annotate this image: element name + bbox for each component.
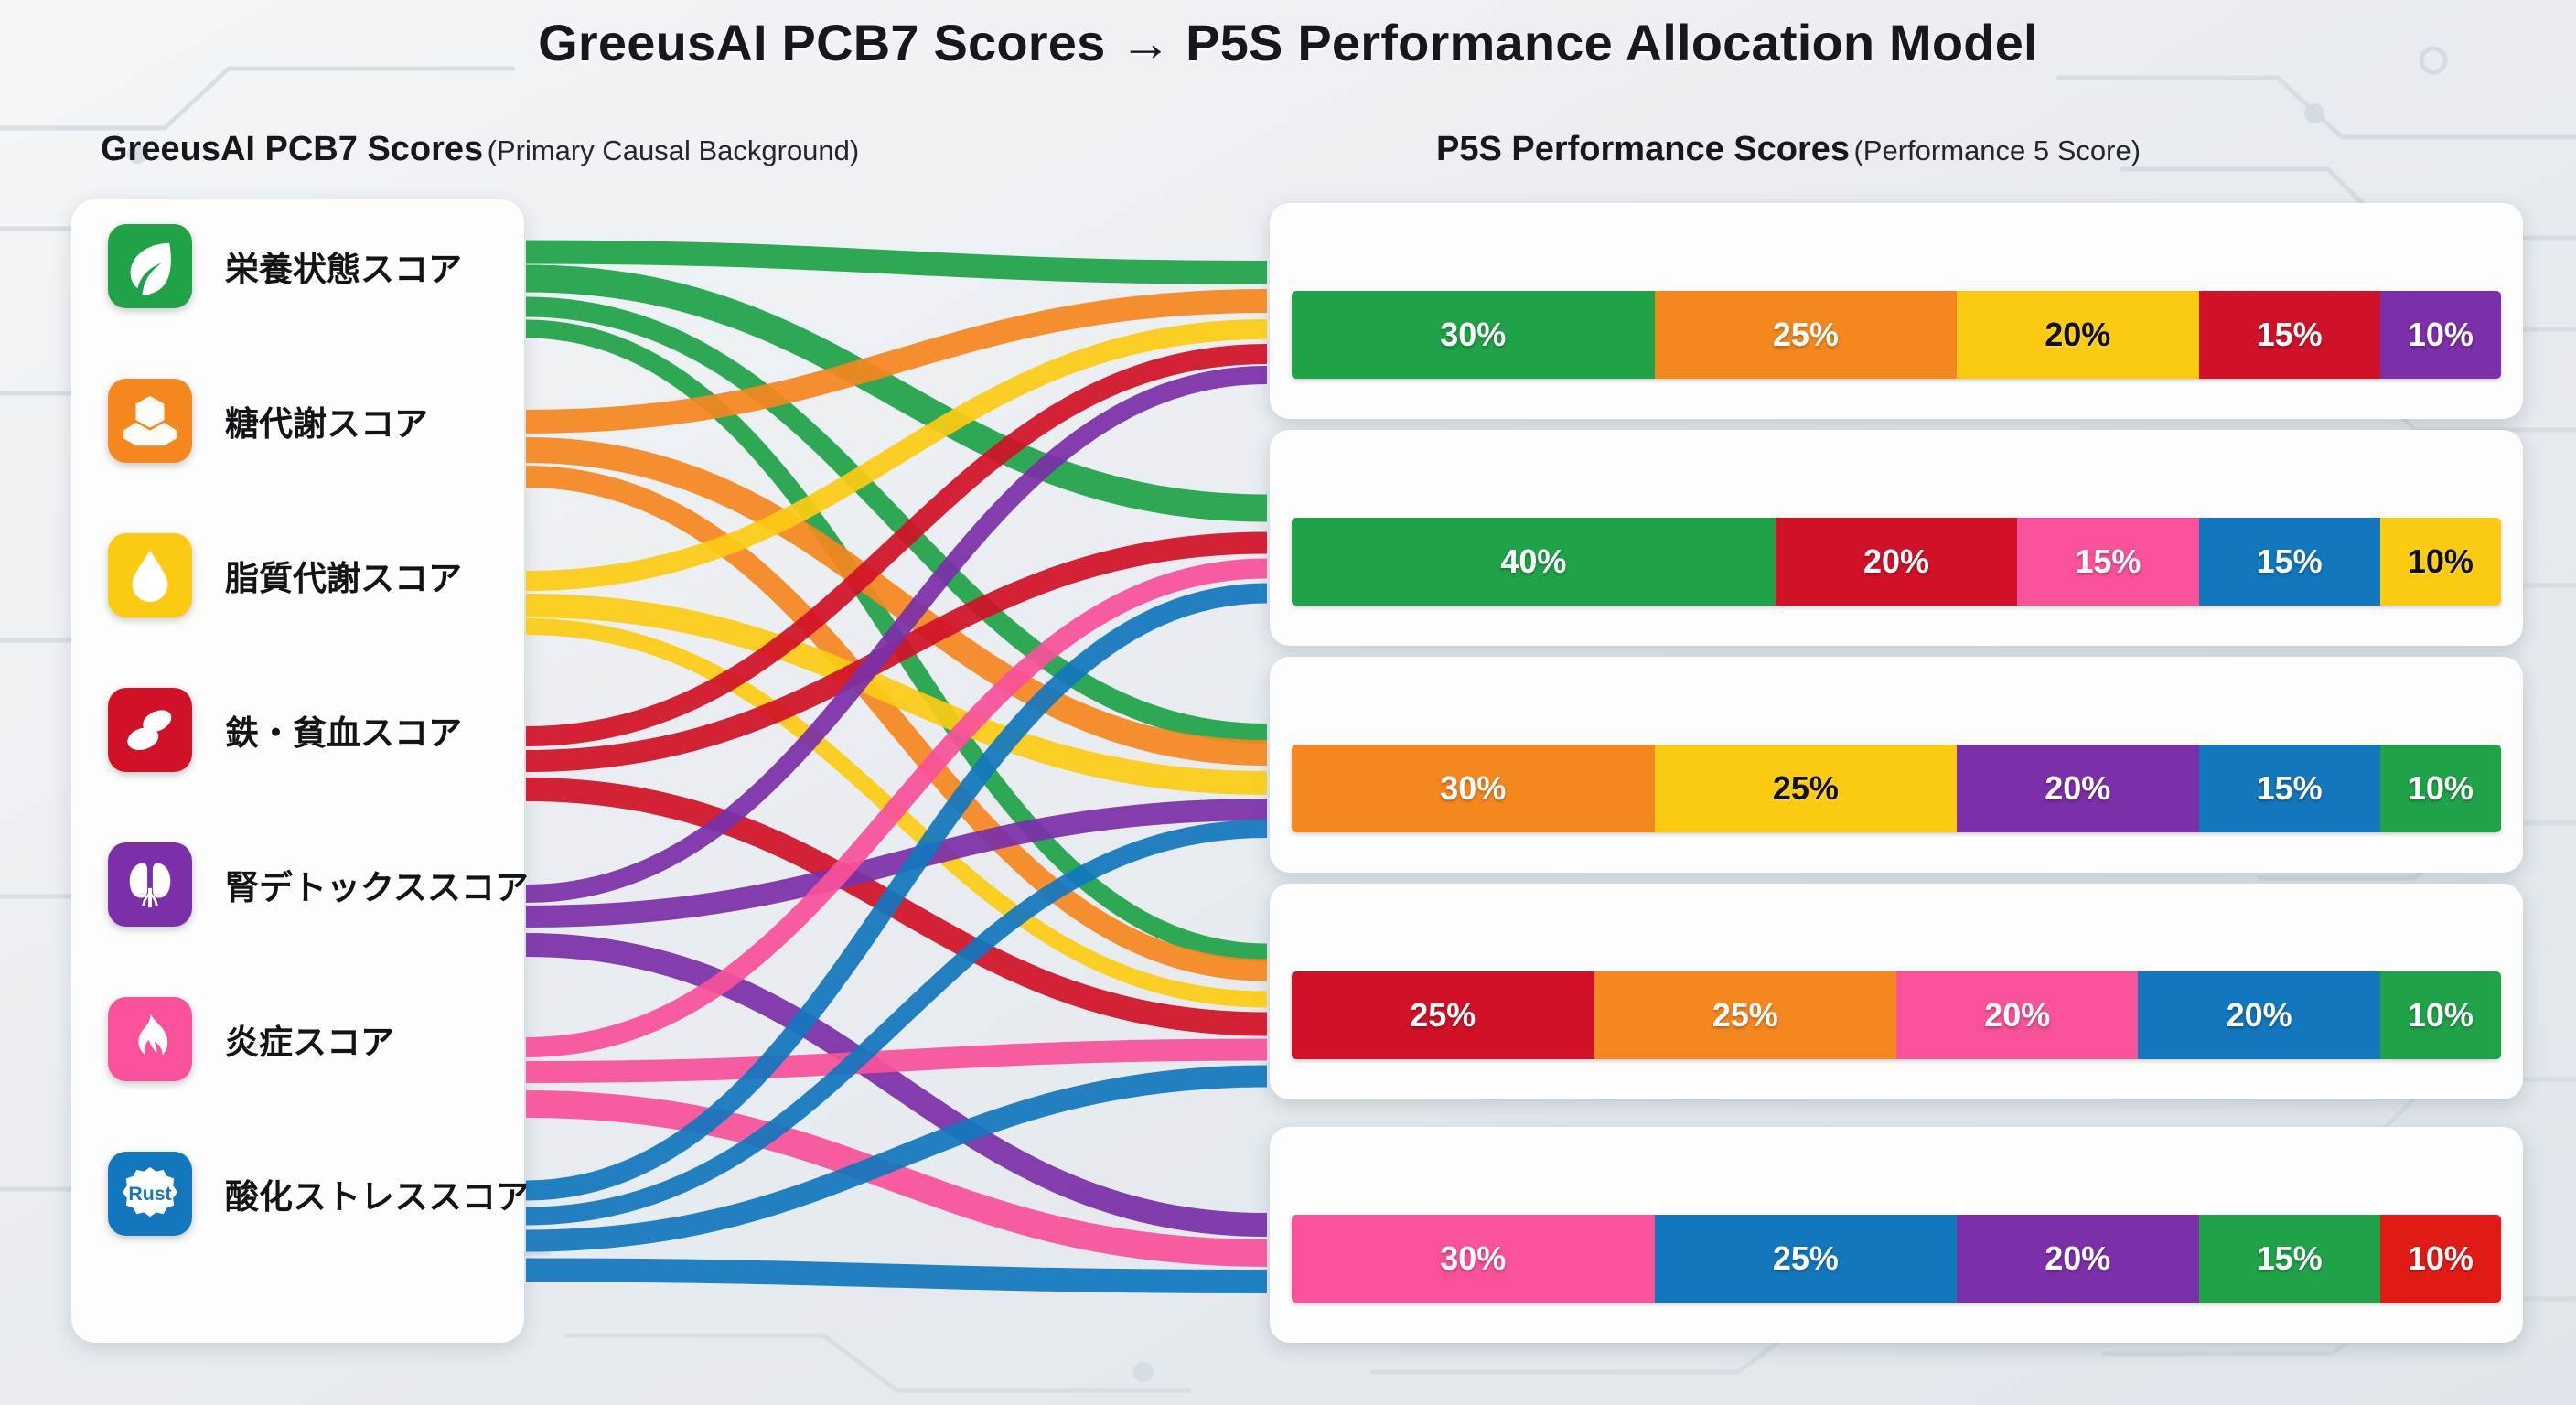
flow-ribbons xyxy=(0,0,2576,1405)
flow-ribbon xyxy=(526,252,1267,273)
flow-ribbon xyxy=(526,1050,1267,1073)
flow-ribbon xyxy=(526,1271,1267,1282)
